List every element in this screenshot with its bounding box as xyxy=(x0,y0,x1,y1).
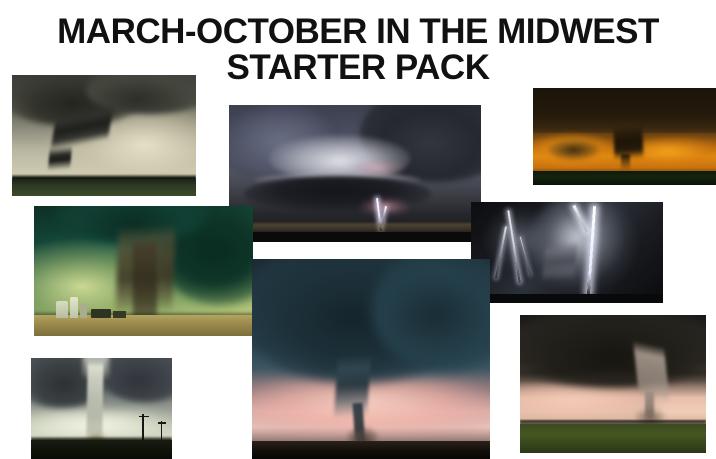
photo-lightning-strikes-with-tornado xyxy=(471,202,663,303)
ground-layer xyxy=(12,179,196,196)
rain-glow-band xyxy=(252,379,490,435)
grain-silo xyxy=(70,297,78,318)
cloud-layer xyxy=(548,140,599,159)
ground-layer xyxy=(533,171,716,185)
farm-building xyxy=(91,309,111,318)
photo-cone-tornado-green-field xyxy=(520,315,706,453)
title-line-1: MARCH-OCTOBER IN THE MIDWEST xyxy=(0,14,716,50)
farm-building xyxy=(113,311,126,318)
tornado-funnel xyxy=(87,358,104,443)
power-line xyxy=(139,416,149,418)
photo-green-sky-wedge-tornado-over-farm xyxy=(34,206,253,336)
ground-layer xyxy=(34,315,253,336)
grain-silo xyxy=(80,304,87,318)
lightning-flash xyxy=(486,208,551,269)
grain-silo xyxy=(56,301,68,318)
photo-grey-funnel-over-plains xyxy=(12,75,196,196)
ground-layer xyxy=(229,232,481,242)
meme-canvas: MARCH-OCTOBER IN THE MIDWEST STARTER PAC… xyxy=(0,0,716,459)
ground-layer xyxy=(252,441,490,459)
ground-layer xyxy=(31,440,172,459)
photo-supercell-mesocyclone-with-lightning xyxy=(229,105,481,242)
shelf-cloud-edge xyxy=(520,370,706,384)
photo-orange-sunset-tornado xyxy=(533,88,716,185)
ground-layer xyxy=(471,294,663,303)
tornado-funnel xyxy=(621,154,630,171)
power-line xyxy=(158,422,166,423)
photo-dark-tornado-pink-glow xyxy=(252,259,490,459)
ground-layer xyxy=(520,424,706,453)
tornado-funnel xyxy=(133,242,157,320)
photo-white-rope-tornado-power-lines xyxy=(31,358,172,459)
